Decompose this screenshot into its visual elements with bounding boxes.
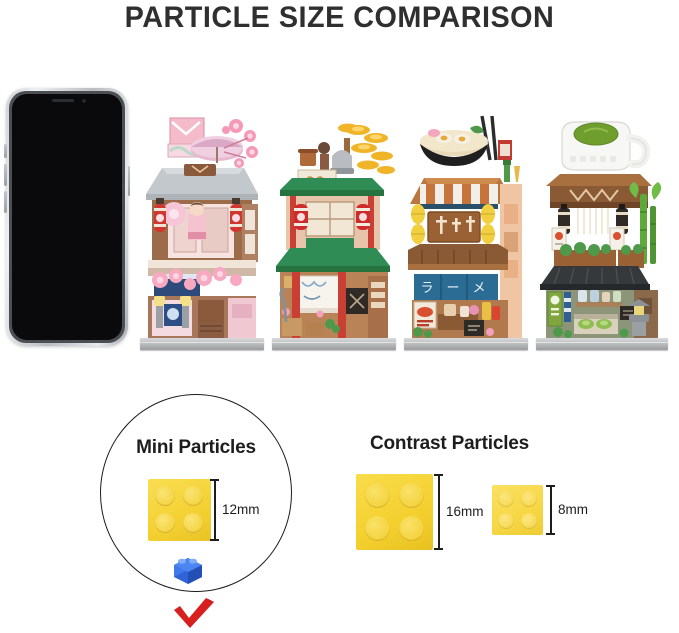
model-matcha-tea-house (536, 108, 668, 350)
dimension-line-8mm (546, 485, 555, 535)
brick-12mm (148, 479, 211, 541)
stud (521, 513, 537, 529)
model-onsen-bathhouse (272, 108, 396, 350)
mini-particles-label: Mini Particles (100, 437, 292, 459)
model-row: ラ ー メ (140, 108, 679, 350)
stud (183, 513, 203, 533)
phone-bezel (9, 91, 125, 343)
contrast-particles-label: Contrast Particles (370, 433, 529, 455)
stud (183, 486, 203, 506)
stud (399, 483, 424, 508)
volume-down-button (4, 191, 7, 213)
svg-text:ラ: ラ (420, 281, 433, 296)
dimension-text-12mm: 12mm (222, 502, 260, 517)
brick-8mm (492, 485, 543, 535)
ramen-shop-art: ラ ー メ (404, 108, 528, 350)
sakura-shop-art (140, 108, 264, 350)
phone-screen (12, 94, 122, 340)
stud (498, 491, 514, 507)
matcha-shop-art (536, 108, 668, 350)
svg-text:ー: ー (446, 281, 459, 296)
svg-text:メ: メ (472, 281, 485, 296)
dimension-text-8mm: 8mm (558, 502, 588, 517)
model-sakura-kimono-shop (140, 108, 264, 350)
volume-up-button (4, 164, 7, 186)
stud (365, 483, 390, 508)
onsen-shop-art (272, 108, 396, 350)
stud (155, 513, 175, 533)
model-baseplate (140, 338, 264, 350)
check-mark-icon (170, 596, 220, 630)
dimension-text-16mm: 16mm (446, 504, 484, 519)
model-baseplate (404, 338, 528, 350)
notch-ear-right (95, 94, 104, 103)
model-baseplate (272, 338, 396, 350)
model-ramen-shop: ラ ー メ (404, 108, 528, 350)
stud (399, 516, 424, 541)
stud (498, 513, 514, 529)
phone-notch (39, 94, 95, 107)
notch-ear-left (30, 94, 39, 103)
brick-16mm (356, 474, 433, 550)
blue-brick (168, 553, 208, 587)
power-button (128, 166, 131, 196)
smartphone-scale-reference (6, 88, 128, 346)
dimension-line-12mm (210, 479, 219, 541)
stud (521, 491, 537, 507)
dimension-line-16mm (434, 474, 443, 550)
mute-switch (4, 144, 7, 158)
stud (365, 516, 390, 541)
stud (155, 486, 175, 506)
page-title: PARTICLE SIZE COMPARISON (14, 1, 666, 35)
model-baseplate (536, 338, 668, 350)
